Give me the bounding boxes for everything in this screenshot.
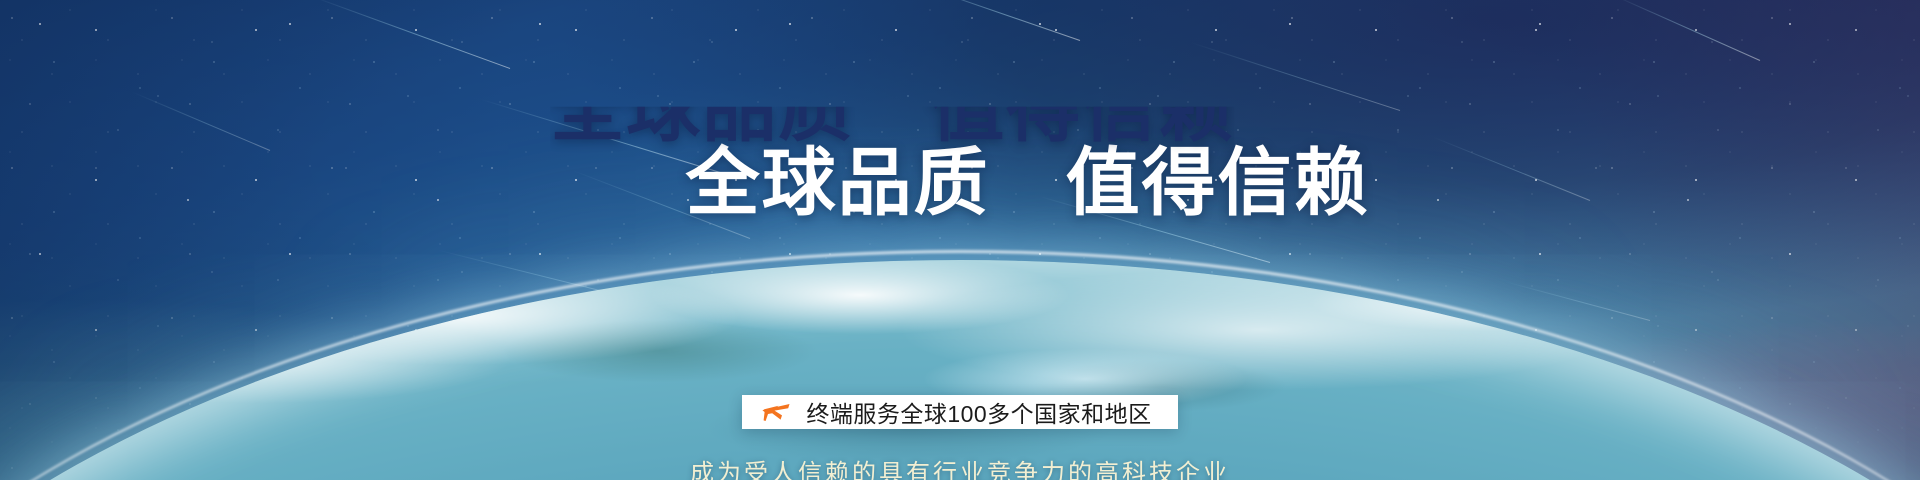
service-coverage-badge-label: 终端服务全球100多个国家和地区 xyxy=(806,395,1151,429)
airplane-icon xyxy=(762,397,792,428)
banner-content: 全球品质 值得信赖 全球品质 值得信赖 终端服务全球100多个国家和地区 成为受… xyxy=(0,0,1920,480)
banner-subtitle-cn: 成为受人信赖的具有行业竞争力的高科技企业 xyxy=(690,453,1230,480)
banner-headline: 全球品质 值得信赖 全球品质 值得信赖 xyxy=(550,72,1369,368)
banner-headline-tone-overlay: 全球品质 值得信赖 xyxy=(550,72,1234,146)
banner-headline-text: 全球品质 值得信赖 xyxy=(686,141,1370,224)
hero-banner: 全球品质 值得信赖 全球品质 值得信赖 终端服务全球100多个国家和地区 成为受… xyxy=(0,0,1920,480)
service-coverage-badge[interactable]: 终端服务全球100多个国家和地区 xyxy=(742,395,1177,429)
